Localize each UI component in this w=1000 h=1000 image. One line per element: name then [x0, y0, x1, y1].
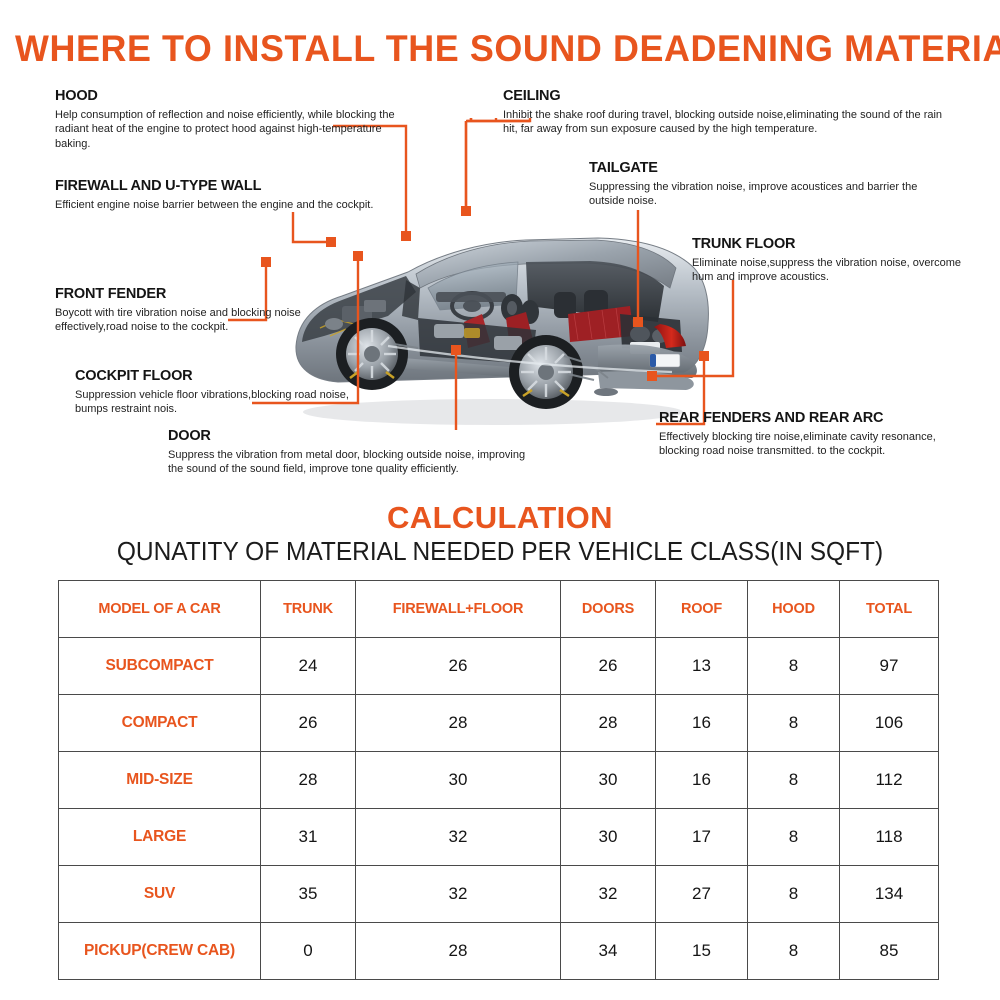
- callout-rear-fenders-title: REAR FENDERS AND REAR ARC: [659, 410, 969, 427]
- cell-roof: 13: [656, 638, 748, 695]
- cell-trunk: 24: [261, 638, 356, 695]
- cell-hood: 8: [748, 695, 840, 752]
- cell-firewall-floor: 28: [356, 923, 561, 980]
- cell-hood: 8: [748, 923, 840, 980]
- cell-trunk: 35: [261, 866, 356, 923]
- cell-model: PICKUP(CREW CAB): [59, 923, 261, 980]
- table-row: SUBCOMPACT 24 26 26 13 8 97: [59, 638, 939, 695]
- callout-tailgate: TAILGATE Suppressing the vibration noise…: [589, 160, 919, 209]
- table-row: MID-SIZE 28 30 30 16 8 112: [59, 752, 939, 809]
- callout-firewall: FIREWALL AND U-TYPE WALL Efficient engin…: [55, 178, 395, 212]
- cell-roof: 15: [656, 923, 748, 980]
- callout-hood: HOOD Help consumption of reflection and …: [55, 88, 395, 151]
- table-header-row: MODEL OF A CAR TRUNK FIREWALL+FLOOR DOOR…: [59, 581, 939, 638]
- table-row: LARGE 31 32 30 17 8 118: [59, 809, 939, 866]
- cell-firewall-floor: 32: [356, 809, 561, 866]
- callout-door-title: DOOR: [168, 428, 543, 445]
- cell-roof: 17: [656, 809, 748, 866]
- cell-trunk: 28: [261, 752, 356, 809]
- table-row: PICKUP(CREW CAB) 0 28 34 15 8 85: [59, 923, 939, 980]
- cell-model: SUV: [59, 866, 261, 923]
- cell-hood: 8: [748, 809, 840, 866]
- cell-doors: 26: [561, 638, 656, 695]
- col-header-trunk: TRUNK: [261, 581, 356, 638]
- callout-ceiling-title: CEILING: [503, 88, 943, 105]
- table-row: SUV 35 32 32 27 8 134: [59, 866, 939, 923]
- col-header-firewall-floor: FIREWALL+FLOOR: [356, 581, 561, 638]
- cell-model: SUBCOMPACT: [59, 638, 261, 695]
- callout-cockpit-floor-title: COCKPIT FLOOR: [75, 368, 375, 385]
- callout-hood-title: HOOD: [55, 88, 395, 105]
- cell-doors: 30: [561, 752, 656, 809]
- cell-firewall-floor: 32: [356, 866, 561, 923]
- cell-total: 118: [840, 809, 939, 866]
- callout-door: DOOR Suppress the vibration from metal d…: [168, 428, 543, 477]
- cell-doors: 32: [561, 866, 656, 923]
- material-quantity-table: MODEL OF A CAR TRUNK FIREWALL+FLOOR DOOR…: [58, 580, 939, 980]
- cell-total: 85: [840, 923, 939, 980]
- callout-rear-fenders: REAR FENDERS AND REAR ARC Effectively bl…: [659, 410, 969, 459]
- callout-trunk-floor-title: TRUNK FLOOR: [692, 236, 972, 253]
- cell-roof: 16: [656, 695, 748, 752]
- callout-tailgate-title: TAILGATE: [589, 160, 919, 177]
- calculation-title: CALCULATION: [0, 500, 1000, 536]
- cell-total: 112: [840, 752, 939, 809]
- callout-front-fender-title: FRONT FENDER: [55, 286, 345, 303]
- infographic-page: WHERE TO INSTALL THE SOUND DEADENING MAT…: [0, 0, 1000, 1000]
- cell-firewall-floor: 26: [356, 638, 561, 695]
- callout-trunk-floor: TRUNK FLOOR Eliminate noise,suppress the…: [692, 236, 972, 285]
- col-header-doors: DOORS: [561, 581, 656, 638]
- callout-hood-body: Help consumption of reflection and noise…: [55, 108, 395, 152]
- cell-doors: 30: [561, 809, 656, 866]
- cell-hood: 8: [748, 866, 840, 923]
- callout-door-body: Suppress the vibration from metal door, …: [168, 448, 543, 477]
- callout-ceiling: CEILING Inhibit the shake roof during tr…: [503, 88, 943, 137]
- cell-total: 134: [840, 866, 939, 923]
- col-header-roof: ROOF: [656, 581, 748, 638]
- cell-trunk: 0: [261, 923, 356, 980]
- cell-doors: 28: [561, 695, 656, 752]
- callout-trunk-floor-body: Eliminate noise,suppress the vibration n…: [692, 256, 972, 285]
- cell-model: MID-SIZE: [59, 752, 261, 809]
- callout-rear-fenders-body: Effectively blocking tire noise,eliminat…: [659, 430, 969, 459]
- col-header-total: TOTAL: [840, 581, 939, 638]
- page-title: WHERE TO INSTALL THE SOUND DEADENING MAT…: [15, 28, 985, 70]
- col-header-hood: HOOD: [748, 581, 840, 638]
- callout-tailgate-body: Suppressing the vibration noise, improve…: [589, 180, 919, 209]
- callout-firewall-body: Efficient engine noise barrier between t…: [55, 198, 395, 213]
- calculation-subtitle: QUNATITY OF MATERIAL NEEDED PER VEHICLE …: [20, 538, 980, 567]
- cell-model: COMPACT: [59, 695, 261, 752]
- cell-doors: 34: [561, 923, 656, 980]
- callout-firewall-title: FIREWALL AND U-TYPE WALL: [55, 178, 395, 195]
- callout-front-fender-body: Boycott with tire vibration noise and bl…: [55, 306, 345, 335]
- callout-ceiling-body: Inhibit the shake roof during travel, bl…: [503, 108, 943, 137]
- cell-firewall-floor: 28: [356, 695, 561, 752]
- callout-front-fender: FRONT FENDER Boycott with tire vibration…: [55, 286, 345, 335]
- cell-hood: 8: [748, 638, 840, 695]
- col-header-model: MODEL OF A CAR: [59, 581, 261, 638]
- cell-roof: 16: [656, 752, 748, 809]
- cell-trunk: 26: [261, 695, 356, 752]
- callout-cockpit-floor: COCKPIT FLOOR Suppression vehicle floor …: [75, 368, 375, 417]
- cell-model: LARGE: [59, 809, 261, 866]
- table-row: COMPACT 26 28 28 16 8 106: [59, 695, 939, 752]
- callout-cockpit-floor-body: Suppression vehicle floor vibrations,blo…: [75, 388, 375, 417]
- cell-trunk: 31: [261, 809, 356, 866]
- cell-total: 97: [840, 638, 939, 695]
- cell-firewall-floor: 30: [356, 752, 561, 809]
- cell-total: 106: [840, 695, 939, 752]
- cell-roof: 27: [656, 866, 748, 923]
- cell-hood: 8: [748, 752, 840, 809]
